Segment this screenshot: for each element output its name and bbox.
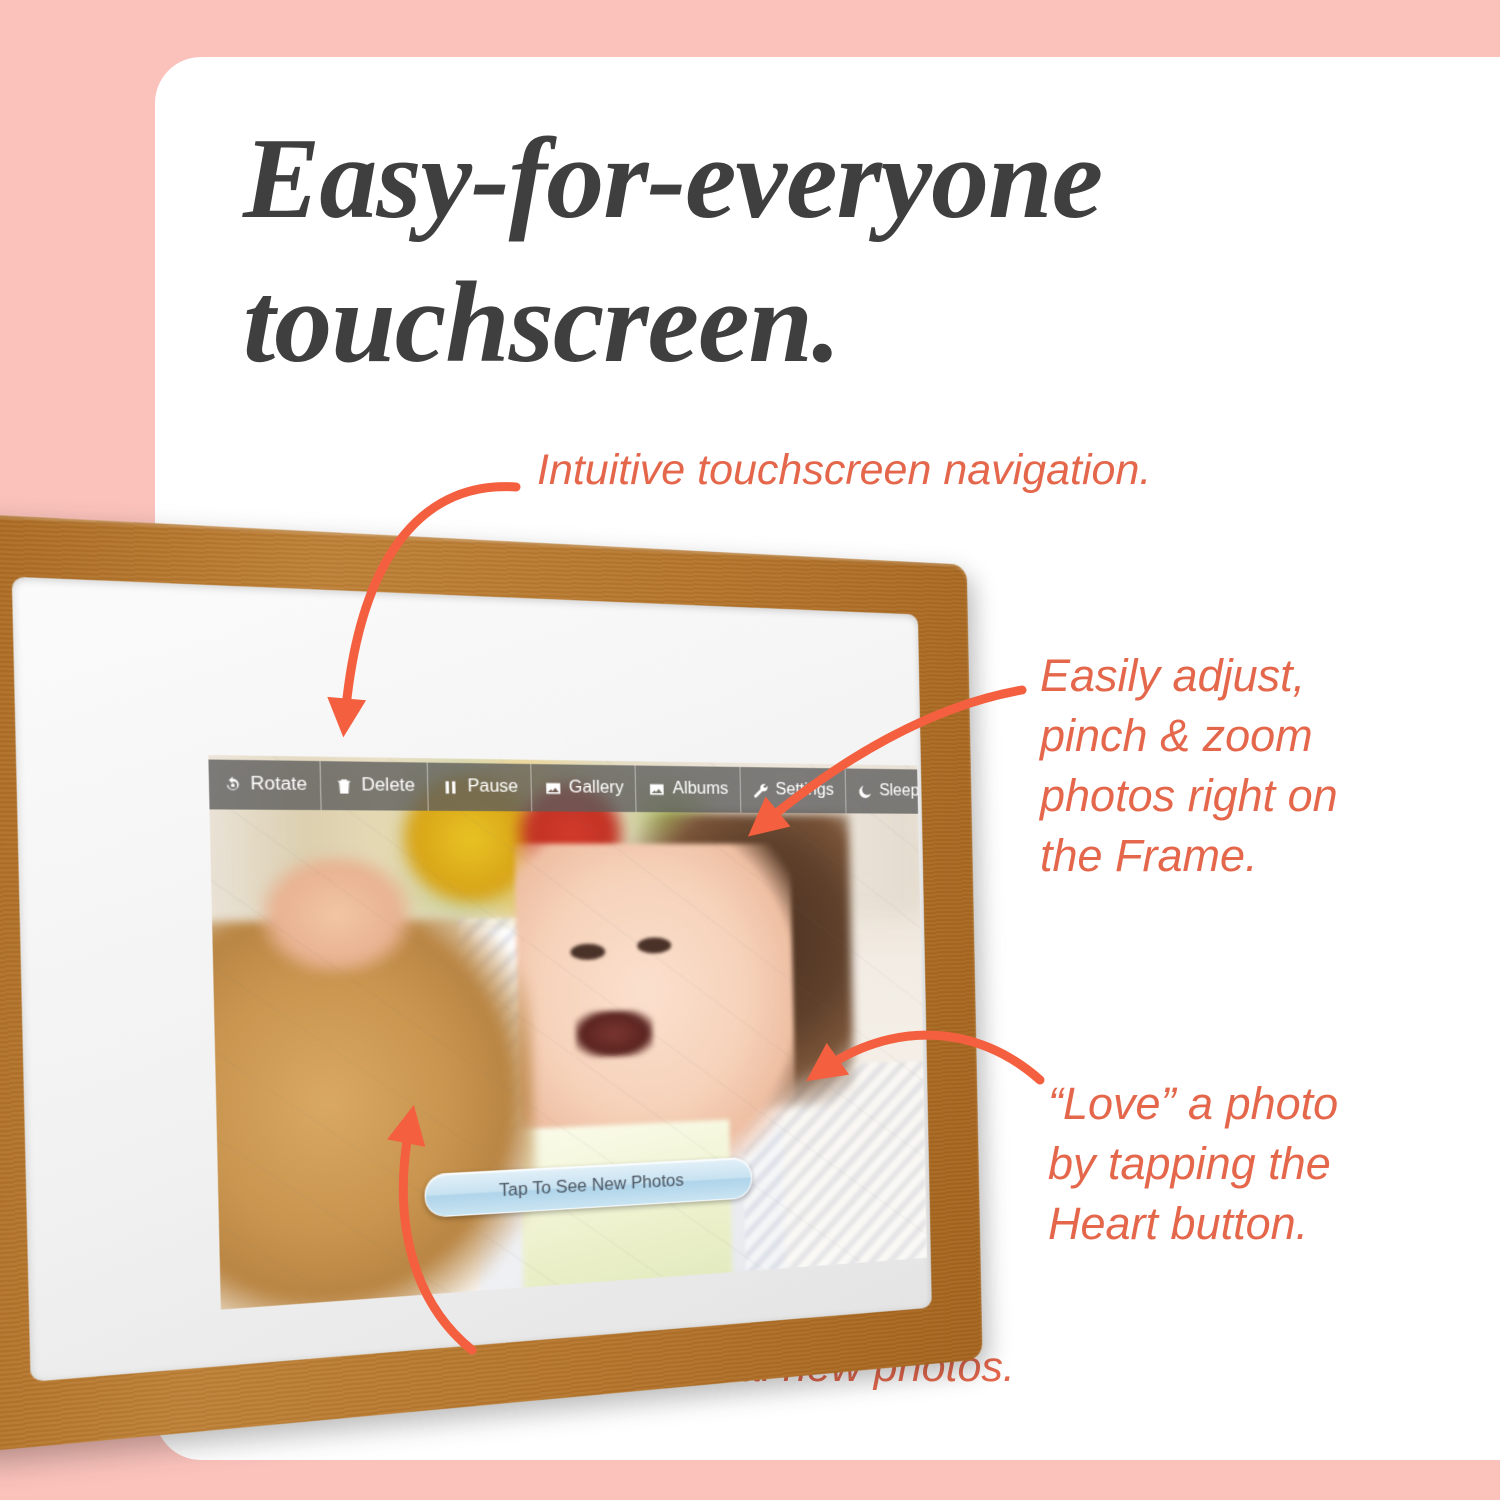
toolbar-item-albums[interactable]: Albums [636, 766, 741, 813]
digital-photo-frame: Rotate Delete [20, 560, 1000, 1380]
callout-pinch-zoom: Easily adjust, pinch & zoom photos right… [1040, 646, 1338, 885]
toolbar-label-settings: Settings [775, 781, 834, 800]
toolbar-item-delete[interactable]: Delete [321, 761, 429, 811]
toolbar-label-rotate: Rotate [250, 775, 307, 796]
toolbar-item-gallery[interactable]: Gallery [531, 764, 637, 812]
headline-line-1: Easy-for-everyone [243, 115, 1102, 243]
headline-line-2: touchscreen. [243, 252, 1363, 396]
displayed-photo [208, 755, 927, 1310]
callout-navigation: Intuitive touchscreen navigation. [537, 443, 1151, 499]
rotate-icon [222, 775, 243, 794]
tap-button-label: Tap To See New Photos [499, 1172, 684, 1202]
frame-wood-border: Rotate Delete [0, 512, 983, 1455]
image-icon [543, 779, 562, 797]
screen-toolbar: Rotate Delete [208, 760, 918, 814]
pause-icon [441, 778, 461, 797]
toolbar-item-settings[interactable]: Settings [740, 767, 846, 813]
albums-icon [648, 780, 666, 798]
toolbar-item-rotate[interactable]: Rotate [208, 760, 321, 811]
poster-canvas: Easy-for-everyone touchscreen. Intuitive… [0, 0, 1500, 1500]
trash-icon [334, 776, 354, 795]
toolbar-label-pause: Pause [467, 777, 518, 797]
wrench-icon [752, 781, 770, 799]
callout-love-heart: “Love” a photo by tapping the Heart butt… [1048, 1074, 1338, 1254]
toolbar-label-albums: Albums [672, 780, 728, 799]
moon-icon [856, 782, 873, 799]
toolbar-label-gallery: Gallery [569, 778, 624, 798]
toolbar-label-delete: Delete [361, 776, 415, 796]
toolbar-item-sleep-mode[interactable]: Sleep Mode [845, 768, 927, 814]
toolbar-label-sleep-mode: Sleep Mode [879, 782, 927, 801]
device-screen[interactable]: Rotate Delete [208, 755, 927, 1310]
toolbar-item-pause[interactable]: Pause [428, 763, 532, 812]
frame-inner-mat: Rotate Delete [12, 577, 932, 1382]
page-title: Easy-for-everyone touchscreen. [243, 108, 1363, 396]
